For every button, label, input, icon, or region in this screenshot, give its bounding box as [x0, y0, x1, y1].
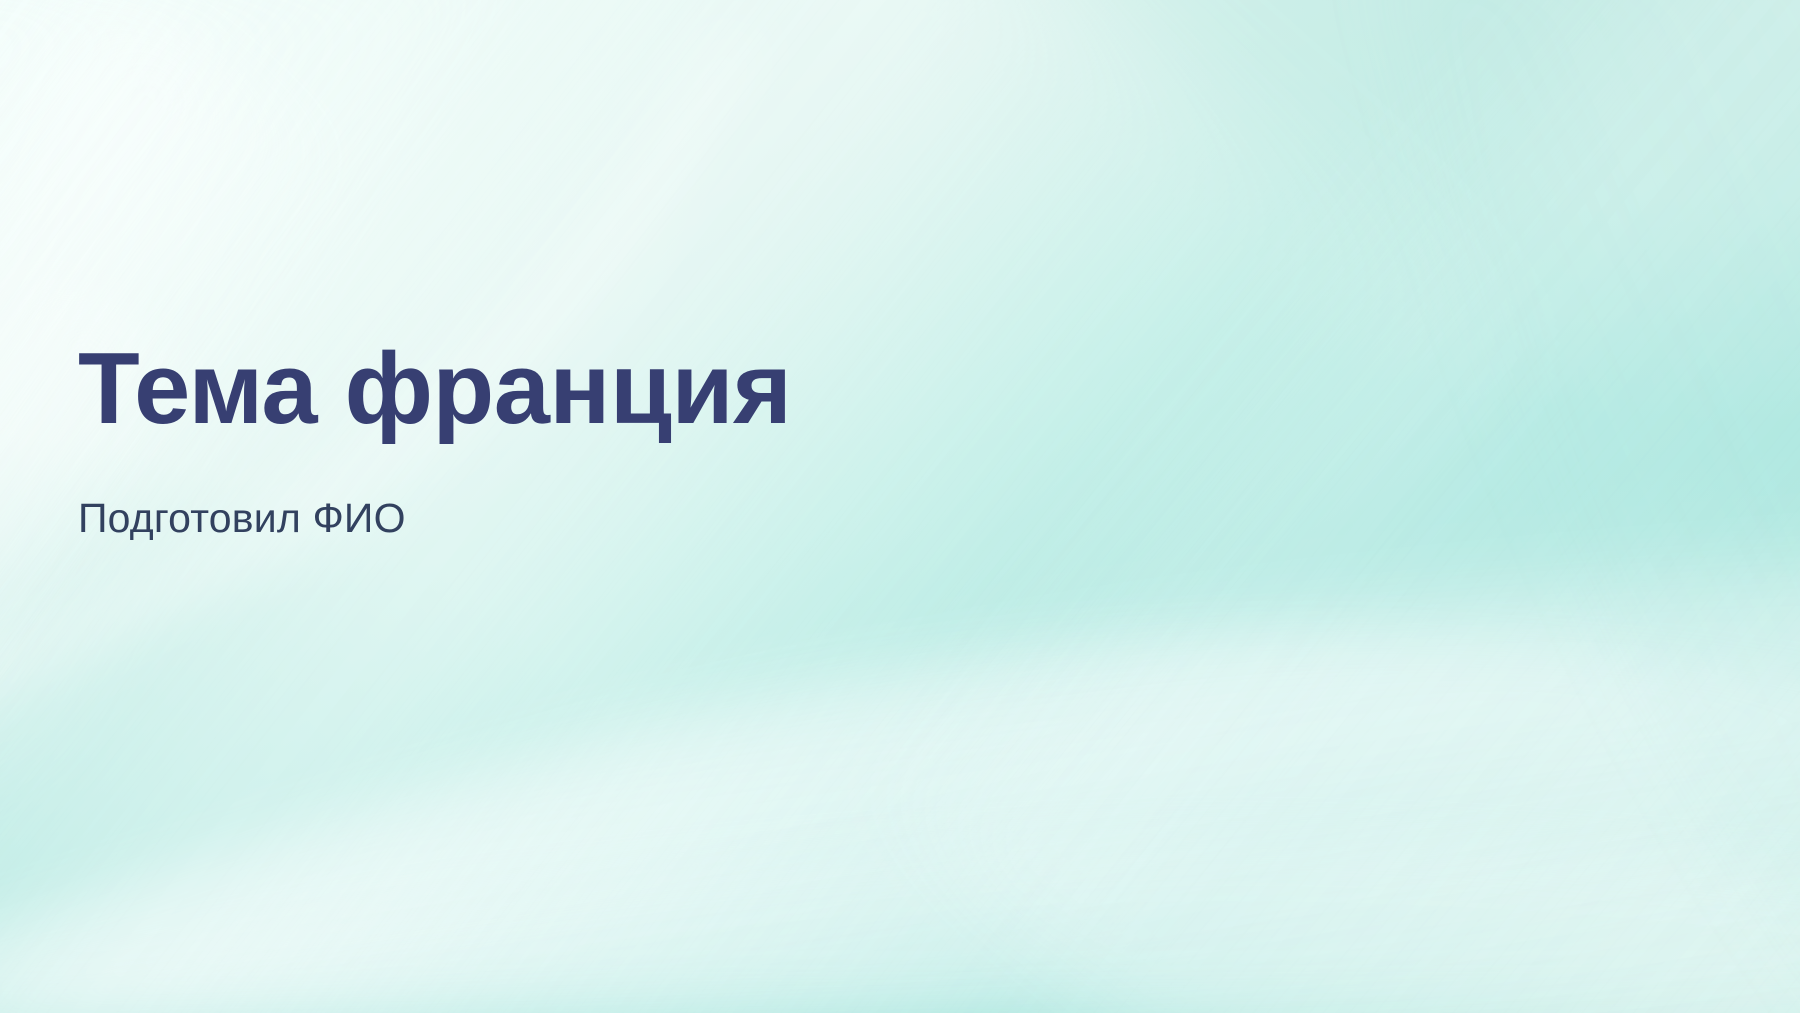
presentation-title-slide: Тема франция Подготовил ФИО	[0, 0, 1800, 1013]
slide-subtitle: Подготовил ФИО	[78, 449, 1278, 544]
slide-title: Тема франция	[78, 330, 1278, 449]
title-text-block: Тема франция Подготовил ФИО	[78, 330, 1278, 544]
